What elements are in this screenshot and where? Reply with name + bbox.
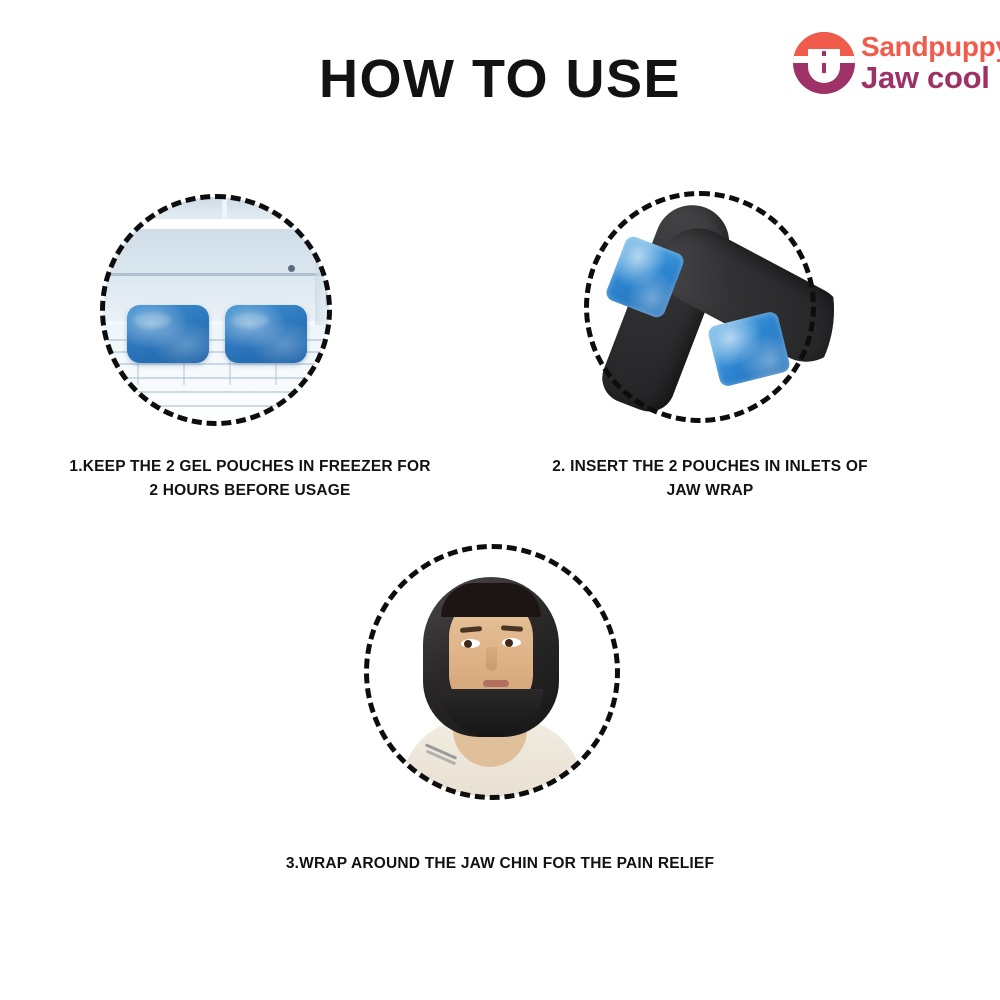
step-2-dashed-circle <box>584 191 816 423</box>
step-3-dashed-circle <box>364 544 620 800</box>
step-3-caption-line1: 3.WRAP AROUND THE JAW CHIN FOR THE PAIN … <box>240 852 760 876</box>
brand-name-line1: Sandpuppy <box>861 33 1000 61</box>
brand-text: Sandpuppy Jaw cool <box>861 33 1000 93</box>
step-3-caption: 3.WRAP AROUND THE JAW CHIN FOR THE PAIN … <box>240 852 760 876</box>
brand-name-line2: Jaw cool <box>861 62 1000 93</box>
step-1-dashed-circle <box>100 194 332 426</box>
brand-logo: Sandpuppy Jaw cool <box>793 27 993 99</box>
sandpuppy-hat-logo-icon <box>793 32 855 94</box>
step-2-caption-line2: JAW WRAP <box>510 479 910 503</box>
step-2-caption: 2. INSERT THE 2 POUCHES IN INLETS OF JAW… <box>510 455 910 503</box>
step-2-caption-line1: 2. INSERT THE 2 POUCHES IN INLETS OF <box>510 455 910 479</box>
step-1-caption-line1: 1.KEEP THE 2 GEL POUCHES IN FREEZER FOR <box>40 455 460 479</box>
step-1-caption: 1.KEEP THE 2 GEL POUCHES IN FREEZER FOR … <box>40 455 460 503</box>
step-1-caption-line2: 2 HOURS BEFORE USAGE <box>40 479 460 503</box>
logo-mark-brim <box>793 56 855 63</box>
